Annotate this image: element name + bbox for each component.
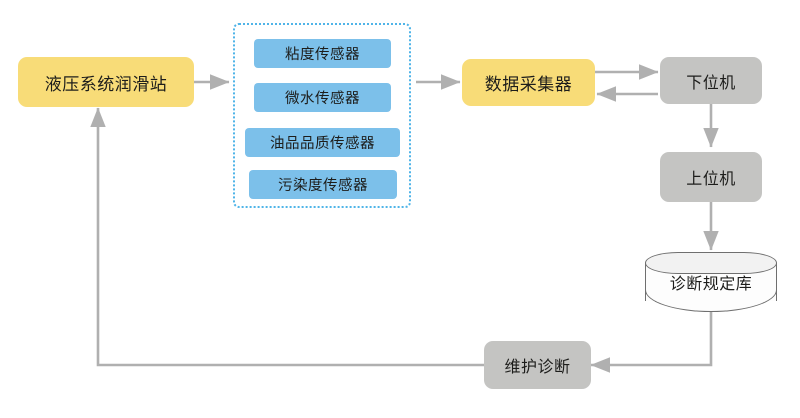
node-rule-database-label: 诊断规定库 bbox=[645, 252, 777, 312]
node-sensor-viscosity[interactable]: 粘度传感器 bbox=[254, 39, 391, 68]
node-data-collector[interactable]: 数据采集器 bbox=[462, 59, 595, 106]
node-hydraulic-station[interactable]: 液压系统润滑站 bbox=[18, 57, 194, 107]
node-upper-computer[interactable]: 上位机 bbox=[660, 152, 762, 202]
node-sensor-oil-quality-label: 油品品质传感器 bbox=[270, 132, 375, 153]
node-sensor-moisture-label: 微水传感器 bbox=[285, 87, 360, 108]
node-hydraulic-station-label: 液压系统润滑站 bbox=[45, 70, 168, 95]
node-upper-computer-label: 上位机 bbox=[686, 165, 736, 189]
node-lower-computer-label: 下位机 bbox=[686, 69, 736, 93]
flow-diagram: 液压系统润滑站 粘度传感器 微水传感器 油品品质传感器 污染度传感器 数据采集器… bbox=[0, 0, 800, 418]
node-lower-computer[interactable]: 下位机 bbox=[660, 57, 762, 104]
node-sensor-moisture[interactable]: 微水传感器 bbox=[254, 83, 391, 112]
node-rule-database[interactable]: 诊断规定库 bbox=[645, 252, 777, 312]
node-sensor-contamination-label: 污染度传感器 bbox=[278, 174, 368, 195]
node-sensor-contamination[interactable]: 污染度传感器 bbox=[249, 170, 397, 199]
node-sensor-viscosity-label: 粘度传感器 bbox=[285, 43, 360, 64]
node-maintenance-diagnosis[interactable]: 维护诊断 bbox=[484, 341, 591, 389]
edge-database-to-maintenance bbox=[591, 310, 711, 365]
node-sensor-oil-quality[interactable]: 油品品质传感器 bbox=[245, 128, 400, 157]
node-data-collector-label: 数据采集器 bbox=[485, 70, 573, 95]
node-maintenance-diagnosis-label: 维护诊断 bbox=[504, 353, 570, 377]
